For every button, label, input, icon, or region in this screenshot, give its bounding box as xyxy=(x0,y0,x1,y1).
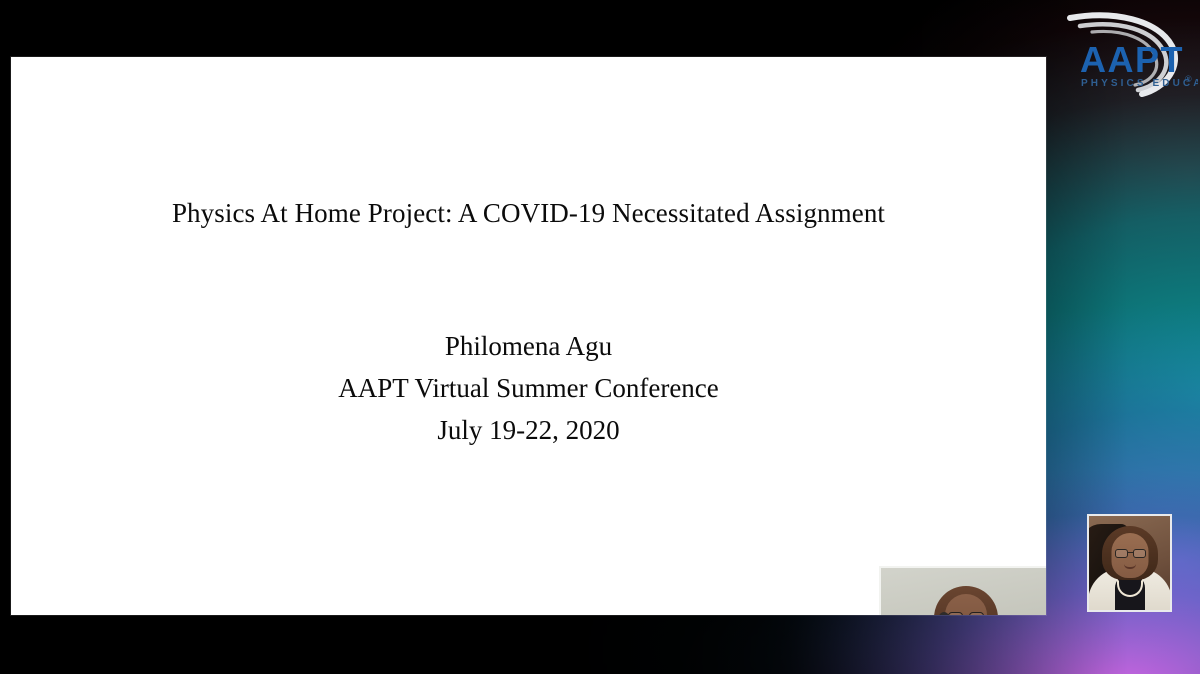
presentation-stage: AAPT PHYSICS EDUCATION ® Physics At Home… xyxy=(0,0,1200,674)
video-tile-participant[interactable] xyxy=(1087,514,1172,612)
slide-subtitle-block: Philomena Agu AAPT Virtual Summer Confer… xyxy=(11,325,1046,451)
shared-slide[interactable]: Physics At Home Project: A COVID-19 Nece… xyxy=(11,57,1046,615)
active-speaker-video xyxy=(881,568,1046,615)
slide-title: Physics At Home Project: A COVID-19 Nece… xyxy=(11,198,1046,229)
video-tile-active-speaker[interactable] xyxy=(879,566,1046,615)
registered-mark: ® xyxy=(1185,74,1192,84)
conference-name: AAPT Virtual Summer Conference xyxy=(11,367,1046,409)
participant-video xyxy=(1089,516,1170,610)
presenter-name: Philomena Agu xyxy=(11,325,1046,367)
aapt-logo: AAPT PHYSICS EDUCATION ® xyxy=(1062,2,1198,102)
aapt-wordmark: AAPT xyxy=(1080,39,1184,80)
aapt-tagline: PHYSICS EDUCATION xyxy=(1081,78,1198,89)
conference-dates: July 19-22, 2020 xyxy=(11,409,1046,451)
